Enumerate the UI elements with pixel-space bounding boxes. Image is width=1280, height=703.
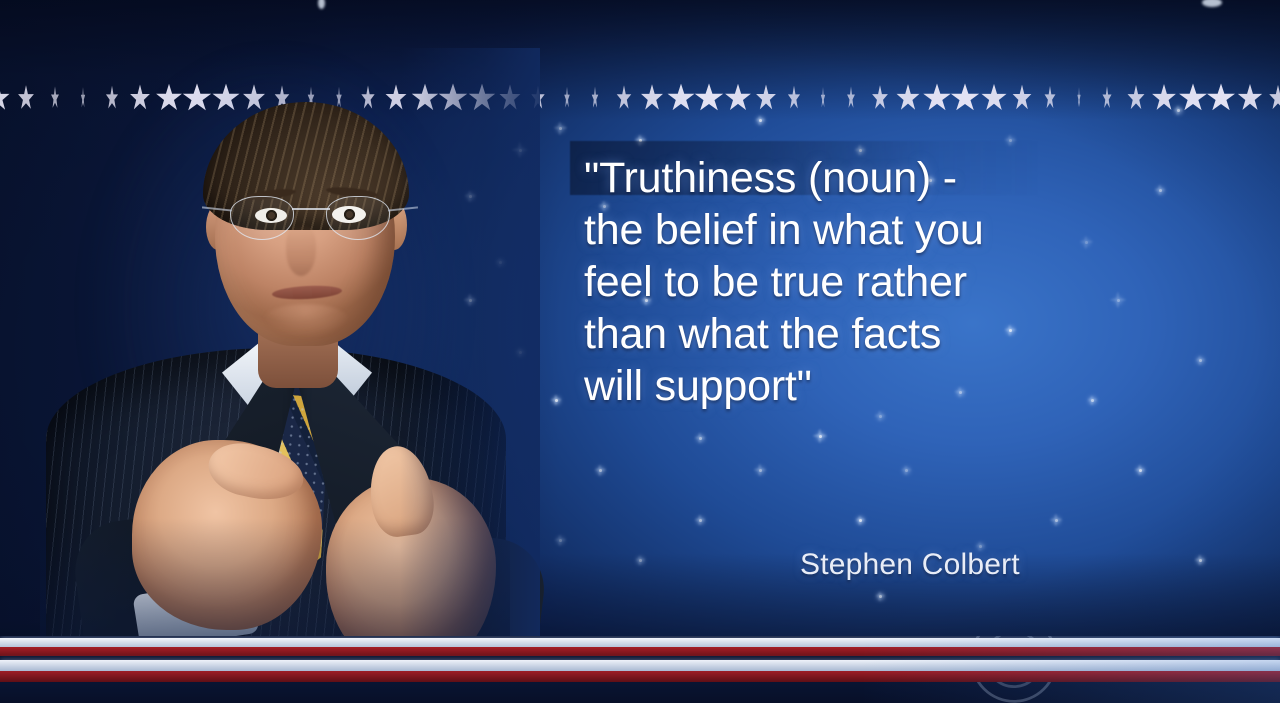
- star-icon: [821, 87, 826, 109]
- star-icon: [1012, 85, 1031, 112]
- star-icon: [1178, 84, 1207, 113]
- eyeglass-bridge: [292, 208, 330, 210]
- star-icon: [923, 84, 951, 113]
- star-icon: [1237, 84, 1262, 112]
- chin-highlight: [262, 304, 350, 338]
- quote-text: "Truthiness (noun) - the belief in what …: [584, 152, 1104, 412]
- star-icon: [641, 84, 663, 112]
- star-icon: [695, 83, 724, 112]
- star-icon: [756, 85, 776, 112]
- star-icon: [1152, 84, 1176, 112]
- eyeglass-lens-left: [230, 196, 294, 240]
- star-icon: [1045, 86, 1056, 110]
- star-icon: [667, 84, 695, 113]
- star-icon: [1127, 85, 1144, 111]
- star-icon: [18, 85, 34, 111]
- star-icon: [1207, 83, 1236, 112]
- star-icon: [724, 84, 750, 112]
- lower-third-banner: [0, 636, 1280, 703]
- star-icon: [1269, 85, 1280, 111]
- star-icon: [896, 84, 919, 112]
- star-icon: [616, 85, 631, 110]
- star-icon: [1103, 86, 1112, 110]
- star-icon: [564, 87, 570, 109]
- broadcast-graphic-screen: "Truthiness (noun) - the belief in what …: [0, 0, 1280, 703]
- eyeglass-lens-right: [326, 196, 390, 240]
- star-icon: [981, 84, 1007, 112]
- banner-right-sheen: [860, 636, 1280, 703]
- star-icon: [847, 86, 855, 109]
- star-icon: [0, 84, 10, 112]
- stephen-colbert-photo: [40, 48, 510, 648]
- quote-attribution: Stephen Colbert: [800, 548, 1100, 582]
- star-icon: [592, 87, 599, 110]
- star-icon: [788, 86, 800, 111]
- star-icon: [951, 83, 980, 112]
- star-icon: [872, 85, 888, 111]
- star-icon: [1077, 87, 1080, 109]
- eyeglasses-icon: [230, 196, 390, 242]
